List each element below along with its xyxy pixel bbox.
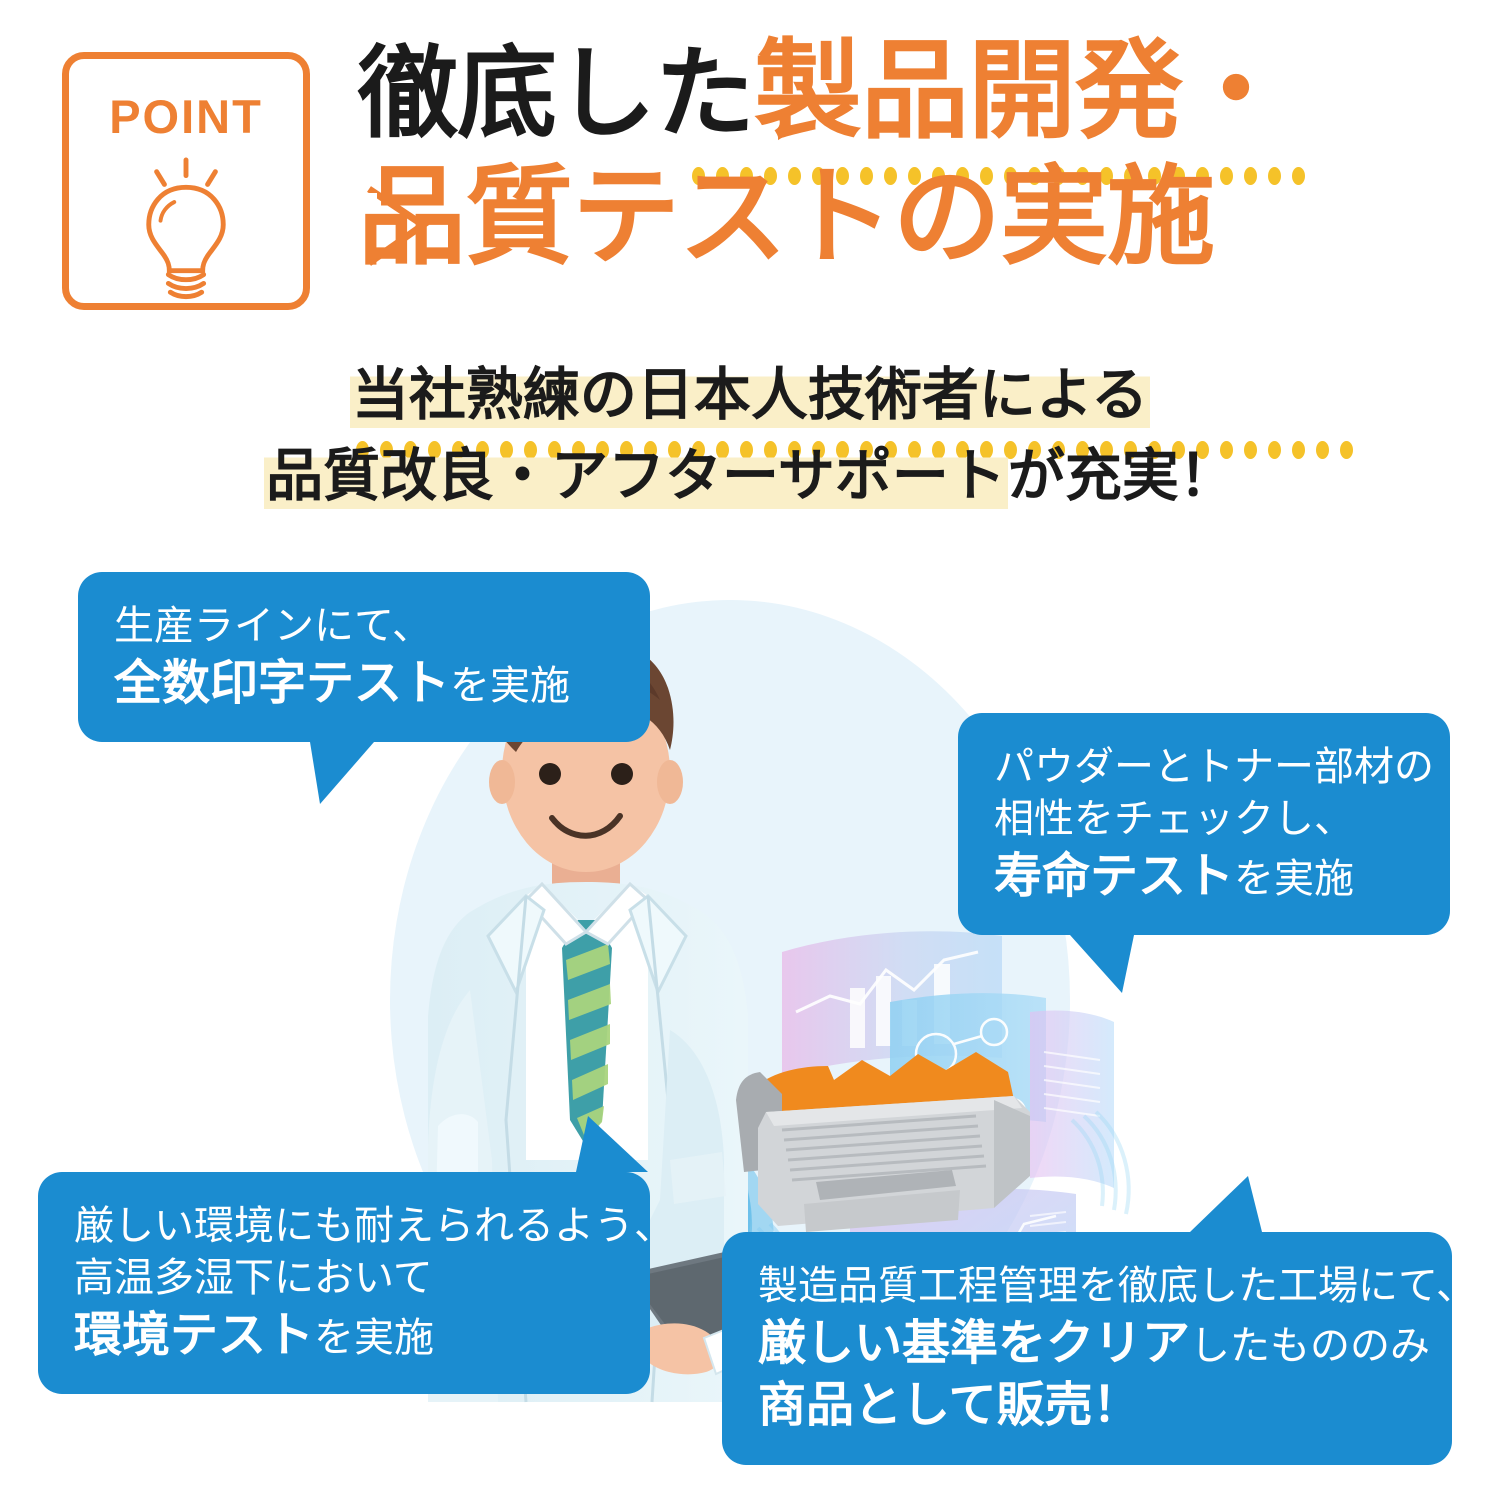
bubble1-line2-suffix: を実施 (450, 663, 570, 709)
bubble3-line3-suffix: を実施 (314, 1315, 434, 1361)
eye-right (611, 763, 633, 785)
speech-bubble-powder-toner: パウダーとトナー部材の 相性をチェックし、 寿命テストを実施 (958, 713, 1450, 935)
bubble1-line2-emphasis: 全数印字テスト (114, 655, 450, 711)
bubble3-line2-text: 高温多湿下において (74, 1255, 433, 1301)
headline-line-1: 徹底した製品開発・ (358, 38, 1458, 146)
bubble4-line1: 製造品質工程管理を徹底した工場にて、 (758, 1260, 1416, 1312)
headline-line1-orange: 製品開発・ (754, 29, 1289, 154)
subheadline-line-2: 品質改良・アフターサポートが充実！ (0, 436, 1500, 517)
bubble4-tail (1190, 1176, 1262, 1232)
lightbulb-icon (126, 156, 246, 303)
bubble2-line3-emphasis: 寿命テスト (994, 848, 1234, 904)
bubble3-line1-text: 厳しい環境にも耐えられるよう、 (74, 1203, 674, 1249)
speech-bubble-factory-standards: 製造品質工程管理を徹底した工場にて、 厳しい基準をクリアしたもののみ 商品として… (722, 1232, 1452, 1465)
bubble4-line2-suffix: したもののみ (1190, 1323, 1430, 1369)
bubble3-line2: 高温多湿下において (74, 1252, 614, 1304)
subheadline-line-1: 当社熟練の日本人技術者による (0, 355, 1500, 436)
bubble4-line1-text: 製造品質工程管理を徹底した工場にて、 (758, 1263, 1476, 1309)
bubble2-line3-suffix: を実施 (1234, 856, 1354, 902)
bubble2-line2: 相性をチェックし、 (994, 793, 1414, 845)
bubble3-line3-emphasis: 環境テスト (74, 1307, 314, 1363)
bubble1-line1-text: 生産ラインにて、 (114, 603, 432, 649)
bubble4-line2: 厳しい基準をクリアしたもののみ (758, 1312, 1416, 1374)
headline-line-2: 品質テストの実施 (358, 164, 1458, 272)
headline: 徹底した製品開発・ 品質テストの実施 (358, 38, 1458, 272)
point-label: POINT (109, 89, 263, 144)
bubble2-line1: パウダーとトナー部材の (994, 741, 1414, 793)
point-badge: POINT (62, 52, 310, 310)
headline-line1-black: 徹底した (358, 35, 754, 152)
speech-bubble-production-line: 生産ラインにて、 全数印字テストを実施 (78, 572, 650, 742)
bubble3-tail (576, 1116, 648, 1172)
eye-left (539, 763, 561, 785)
bubble2-line1-text: パウダーとトナー部材の (994, 744, 1434, 790)
bubble1-line2: 全数印字テストを実施 (114, 652, 614, 714)
bubble1-tail (310, 742, 374, 804)
bubble2-line3: 寿命テストを実施 (994, 845, 1414, 907)
bubble4-line3-emphasis: 商品として販売！ (758, 1377, 1141, 1433)
speech-bubble-environment-test: 厳しい環境にも耐えられるよう、 高温多湿下において 環境テストを実施 (38, 1172, 650, 1394)
bubble2-line2-text: 相性をチェックし、 (994, 796, 1354, 842)
bubble2-tail (1070, 935, 1134, 993)
infographic-canvas: POINT 徹底した製品開発・ 品質テストの実施 (0, 0, 1500, 1500)
bubble3-line3: 環境テストを実施 (74, 1304, 614, 1366)
bubble1-line1: 生産ラインにて、 (114, 600, 614, 652)
bubble4-line3: 商品として販売！ (758, 1374, 1416, 1436)
subheadline-line1-text: 当社熟練の日本人技術者による (350, 362, 1150, 428)
bubble4-line2-emphasis: 厳しい基準をクリア (758, 1315, 1190, 1371)
holo-panel-right-stack (1030, 1010, 1114, 1188)
headline-line2-orange: 品質テストの実施 (358, 155, 1214, 280)
subheadline: 当社熟練の日本人技術者による 品質改良・アフターサポートが充実！ (0, 355, 1500, 517)
subheadline-line2-rest: が充実！ (1008, 443, 1236, 509)
bubble3-line1: 厳しい環境にも耐えられるよう、 (74, 1200, 614, 1252)
subheadline-line2-highlight: 品質改良・アフターサポート (264, 443, 1008, 509)
